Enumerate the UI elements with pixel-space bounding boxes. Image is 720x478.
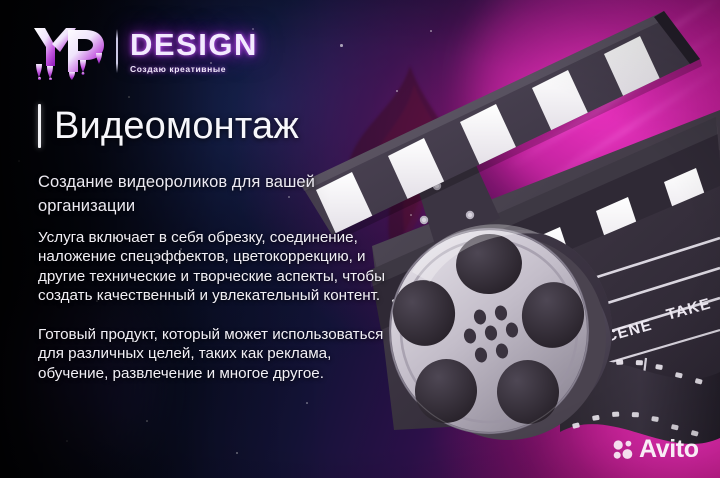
lead-text: Создание видеороликов для вашей организа… bbox=[38, 170, 383, 219]
avito-watermark: Avito bbox=[612, 437, 699, 462]
title-text: Видеомонтаж bbox=[54, 107, 299, 145]
logo-tagline: Создаю креативные bbox=[130, 64, 258, 74]
title-accent-bar bbox=[38, 104, 41, 148]
avito-logo-icon bbox=[612, 439, 633, 460]
body-paragraph-2: Готовый продукт, который может использов… bbox=[38, 325, 388, 383]
logo-wordmark: DESIGN bbox=[130, 29, 258, 60]
logo-divider bbox=[116, 29, 118, 73]
body-paragraph-1: Услуга включает в себя обрезку, соединен… bbox=[38, 228, 388, 306]
brand-logo: DESIGN Создаю креативные bbox=[28, 20, 258, 82]
avito-wordmark: Avito bbox=[639, 437, 699, 462]
poster-canvas: SCENE TAKE bbox=[0, 0, 720, 478]
page-title: Видеомонтаж bbox=[38, 104, 299, 148]
text-content: DESIGN Создаю креативные Видеомонтаж Соз… bbox=[0, 0, 420, 478]
logo-text-block: DESIGN Создаю креативные bbox=[130, 29, 258, 74]
yp-monogram-drip-icon bbox=[28, 22, 110, 80]
